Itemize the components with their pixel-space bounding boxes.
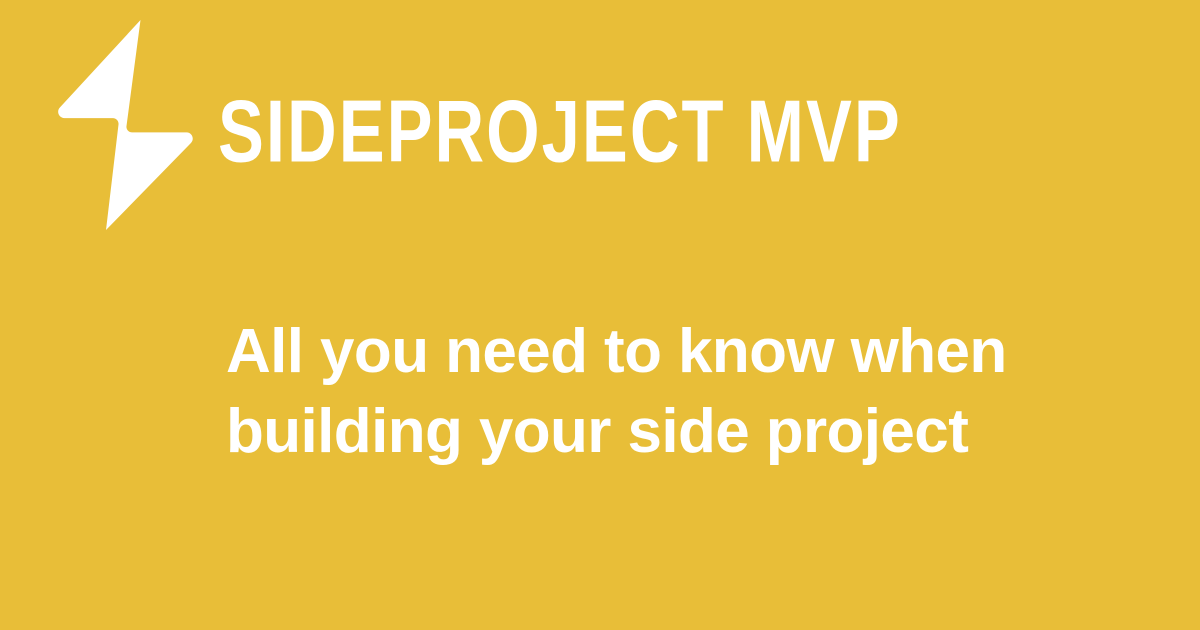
lightning-bolt-icon [54,14,196,236]
headline-line-1: All you need to know when [226,312,1086,392]
og-card: SIDEPROJECT MVP All you need to know whe… [0,0,1200,630]
headline-line-2: building your side project [226,392,1086,472]
brand-wordmark: SIDEPROJECT MVP [218,88,902,176]
brand-lockup: SIDEPROJECT MVP [0,0,1200,250]
headline-block: All you need to know when building your … [226,312,1086,472]
page-title: All you need to know when building your … [226,312,1086,472]
